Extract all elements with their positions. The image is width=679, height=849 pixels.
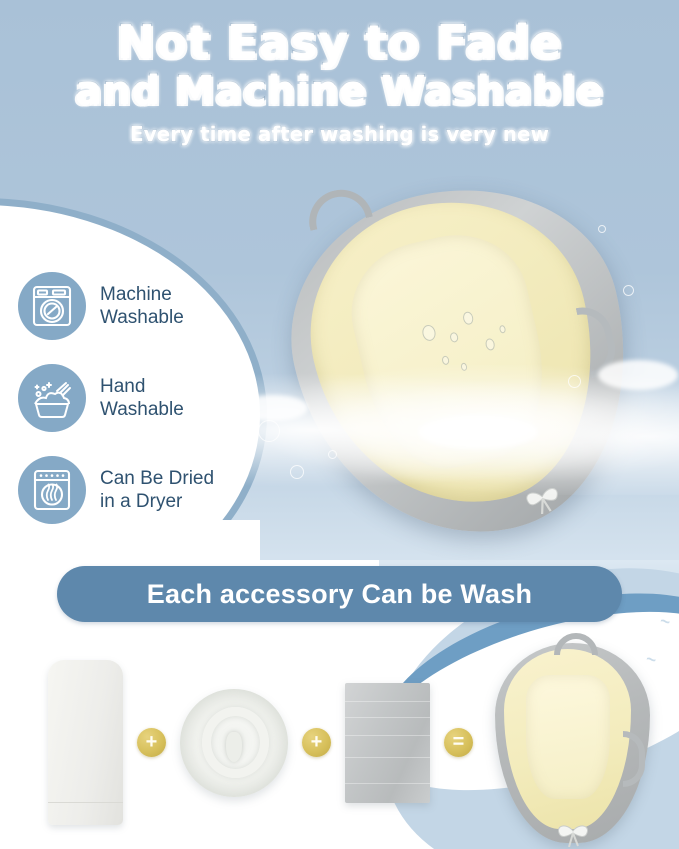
plus-symbol: +	[146, 732, 158, 752]
accessory-equation-row: + + =	[0, 636, 679, 849]
banner-text: Each accessory Can be Wash	[147, 579, 532, 610]
inner-cushion	[180, 689, 288, 797]
assembled-carry-handle	[554, 633, 598, 655]
mattress-pad-cover	[48, 660, 123, 825]
equals-badge: =	[444, 728, 473, 757]
sheet-fold	[345, 735, 430, 736]
feature-list: Machine Washable Hand Washable	[18, 272, 214, 524]
assembled-bow-icon	[553, 823, 593, 847]
headline-subtitle: Every time after washing is very new	[0, 122, 679, 146]
infographic-page: ~ ~ ~ Not Easy to Fade and Machine Washa…	[0, 0, 679, 849]
equals-symbol: =	[453, 732, 465, 752]
sheet-fold	[345, 783, 430, 784]
assembled-lounger	[495, 643, 650, 843]
feature-label: Can Be Dried in a Dryer	[100, 467, 214, 513]
hand-wash-basin-icon	[18, 364, 86, 432]
plus-symbol: +	[311, 732, 323, 752]
feature-item-dryer: Can Be Dried in a Dryer	[18, 456, 214, 524]
headline-block: Not Easy to Fade and Machine Washable Ev…	[0, 16, 679, 146]
sheet-fold	[345, 757, 430, 758]
water-ripple	[623, 285, 634, 296]
water-ripple	[598, 225, 606, 233]
feature-item-machine-washable: Machine Washable	[18, 272, 214, 340]
water-ripple	[290, 465, 304, 479]
sheet-fold	[345, 717, 430, 718]
hero-product-image	[268, 165, 668, 565]
headline-line-1: Not Easy to Fade	[0, 16, 679, 68]
feature-item-hand-washable: Hand Washable	[18, 364, 214, 432]
water-splash-blob	[238, 395, 308, 421]
feature-label: Hand Washable	[100, 375, 184, 421]
water-ripple	[328, 450, 337, 459]
baby-lounger-illustration	[263, 157, 662, 567]
washing-machine-icon	[18, 272, 86, 340]
sheet-fold	[345, 701, 430, 702]
feature-label: Machine Washable	[100, 283, 184, 329]
plus-badge: +	[137, 728, 166, 757]
pad-seam	[48, 802, 123, 803]
water-ripple	[568, 375, 581, 388]
tumble-dryer-icon	[18, 456, 86, 524]
accessory-banner: Each accessory Can be Wash	[57, 566, 622, 622]
gray-sheet-cover	[345, 683, 430, 803]
water-ripple	[258, 420, 280, 442]
water-splash-blob	[418, 415, 538, 449]
assembled-inner-mattress	[526, 675, 610, 799]
water-splash-blob	[598, 360, 678, 390]
headline-line-2: and Machine Washable	[0, 68, 679, 114]
plus-badge: +	[302, 728, 331, 757]
